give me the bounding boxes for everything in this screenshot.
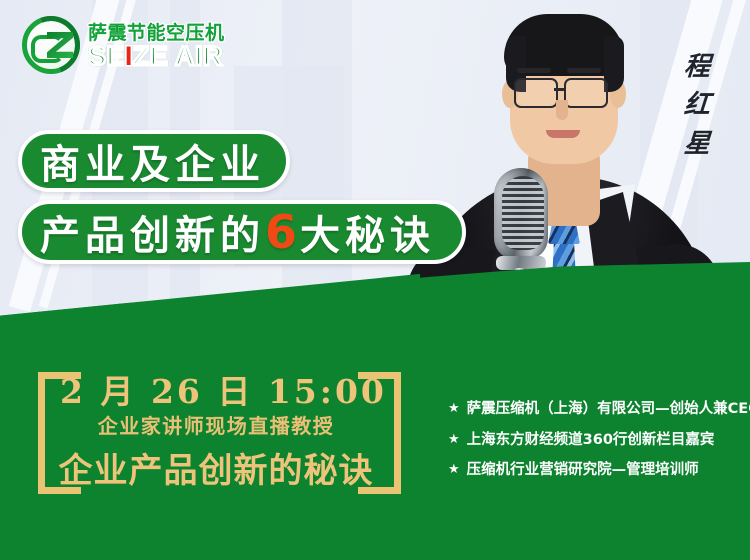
brand-logo[interactable]: 萨震节能空压机 SEIZE AIR	[22, 14, 252, 76]
mouth	[546, 130, 580, 138]
credential-text: 压缩机行业营销研究院—管理培训师	[467, 461, 699, 481]
headline-line-2-before: 产品创新的	[40, 203, 265, 261]
headline-number-6: 6	[265, 205, 300, 259]
sz-circle-logo-icon	[22, 16, 80, 74]
list-item: ★ 萨震压缩机（上海）有限公司—创始人兼CEO	[448, 400, 748, 420]
microphone-head	[494, 168, 548, 260]
speaker-name-char: 红	[677, 86, 720, 124]
speaker-name-vertical: 程 红 星	[678, 48, 718, 163]
eyeglasses-bridge	[554, 88, 566, 91]
brand-name-en: SEIZE AIR	[88, 41, 223, 72]
event-topic: 企业产品创新的秘诀	[28, 443, 404, 492]
credentials-list: ★ 萨震压缩机（上海）有限公司—创始人兼CEO ★ 上海东方财经频道360行创新…	[448, 400, 748, 492]
eyeglasses-lens-right	[564, 78, 608, 108]
brand-en-accent: I	[125, 41, 133, 71]
microphone-grill	[502, 176, 544, 250]
headline-line-1-text: 商业及企业	[40, 132, 265, 190]
headline-line-2: 产品创新的6大秘诀	[18, 200, 466, 264]
star-icon: ★	[448, 431, 460, 449]
list-item: ★ 压缩机行业营销研究院—管理培训师	[448, 461, 748, 481]
nose	[556, 100, 568, 120]
speaker-name-char: 程	[677, 48, 720, 86]
eyebrow-right	[567, 68, 601, 73]
brand-en-part2: ZE AIR	[133, 41, 223, 71]
eyeglasses-lens-left	[514, 78, 558, 108]
brand-en-part1: SE	[88, 41, 125, 71]
list-item: ★ 上海东方财经频道360行创新栏目嘉宾	[448, 431, 748, 451]
credential-text: 上海东方财经频道360行创新栏目嘉宾	[467, 431, 715, 451]
eyebrow-left	[517, 68, 551, 73]
speaker-name-char: 星	[677, 125, 720, 163]
headline-line-1: 商业及企业	[18, 130, 290, 192]
star-icon: ★	[448, 400, 460, 418]
promo-poster: 萨震节能空压机 SEIZE AIR 程 红 星 商业及企业 产品创新的6大秘诀 …	[0, 0, 750, 560]
event-subtitle: 企业家讲师现场直播教授	[60, 410, 372, 439]
star-icon: ★	[448, 461, 460, 479]
credential-text: 萨震压缩机（上海）有限公司—创始人兼CEO	[467, 400, 750, 420]
event-date-time: 2 月 26 日 15:00	[60, 365, 372, 413]
headline-line-2-after: 大秘诀	[300, 203, 435, 261]
